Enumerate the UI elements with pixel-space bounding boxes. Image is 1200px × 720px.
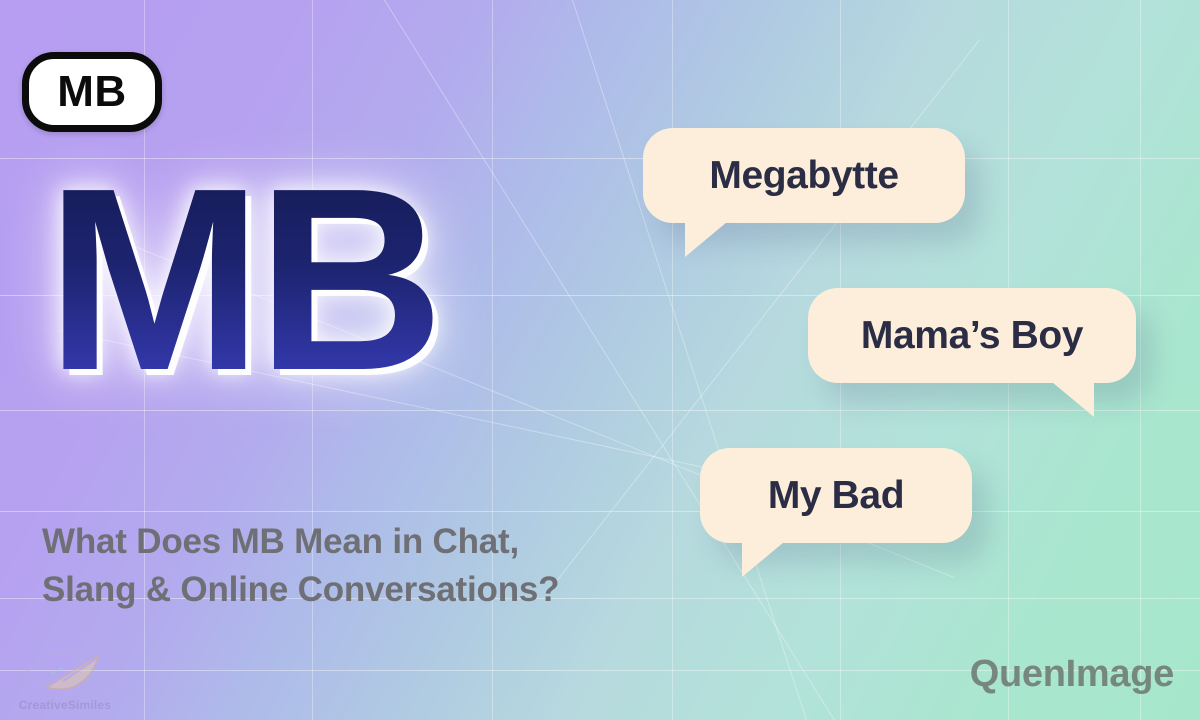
cloud-feather-icon xyxy=(17,643,113,697)
speech-bubble-tail-icon xyxy=(685,217,733,257)
creativesimiles-watermark: s CreativeSimiles xyxy=(0,626,130,712)
speech-bubble-mamas-boy: Mama’s Boy xyxy=(808,288,1136,383)
grid-line-vertical xyxy=(1140,0,1141,720)
speech-bubble-tail-icon xyxy=(742,537,790,577)
page-subtitle: What Does MB Mean in Chat, Slang & Onlin… xyxy=(42,518,662,613)
grid-line-vertical xyxy=(672,0,673,720)
speech-bubble-my-bad: My Bad xyxy=(700,448,972,543)
grid-line-horizontal xyxy=(0,511,1200,512)
mb-badge: MB xyxy=(22,52,162,132)
quenimage-watermark: QuenImage xyxy=(970,653,1174,696)
mb-badge-label: MB xyxy=(57,70,126,114)
speech-bubble-label: Mama’s Boy xyxy=(861,314,1083,358)
speech-bubble-label: My Bad xyxy=(768,474,904,518)
page-subtitle-line-1: What Does MB Mean in Chat, xyxy=(42,518,662,566)
poster-canvas: MB MB What Does MB Mean in Chat, Slang &… xyxy=(0,0,1200,720)
speech-bubble-label: Megabytte xyxy=(709,154,898,198)
page-subtitle-line-2: Slang & Online Conversations? xyxy=(42,566,662,614)
creativesimiles-watermark-label: CreativeSimiles xyxy=(19,698,111,712)
speech-bubble-megabytte: Megabytte xyxy=(643,128,965,223)
hero-wordmark: MB xyxy=(46,150,438,410)
speech-bubble-tail-icon xyxy=(1046,377,1094,417)
